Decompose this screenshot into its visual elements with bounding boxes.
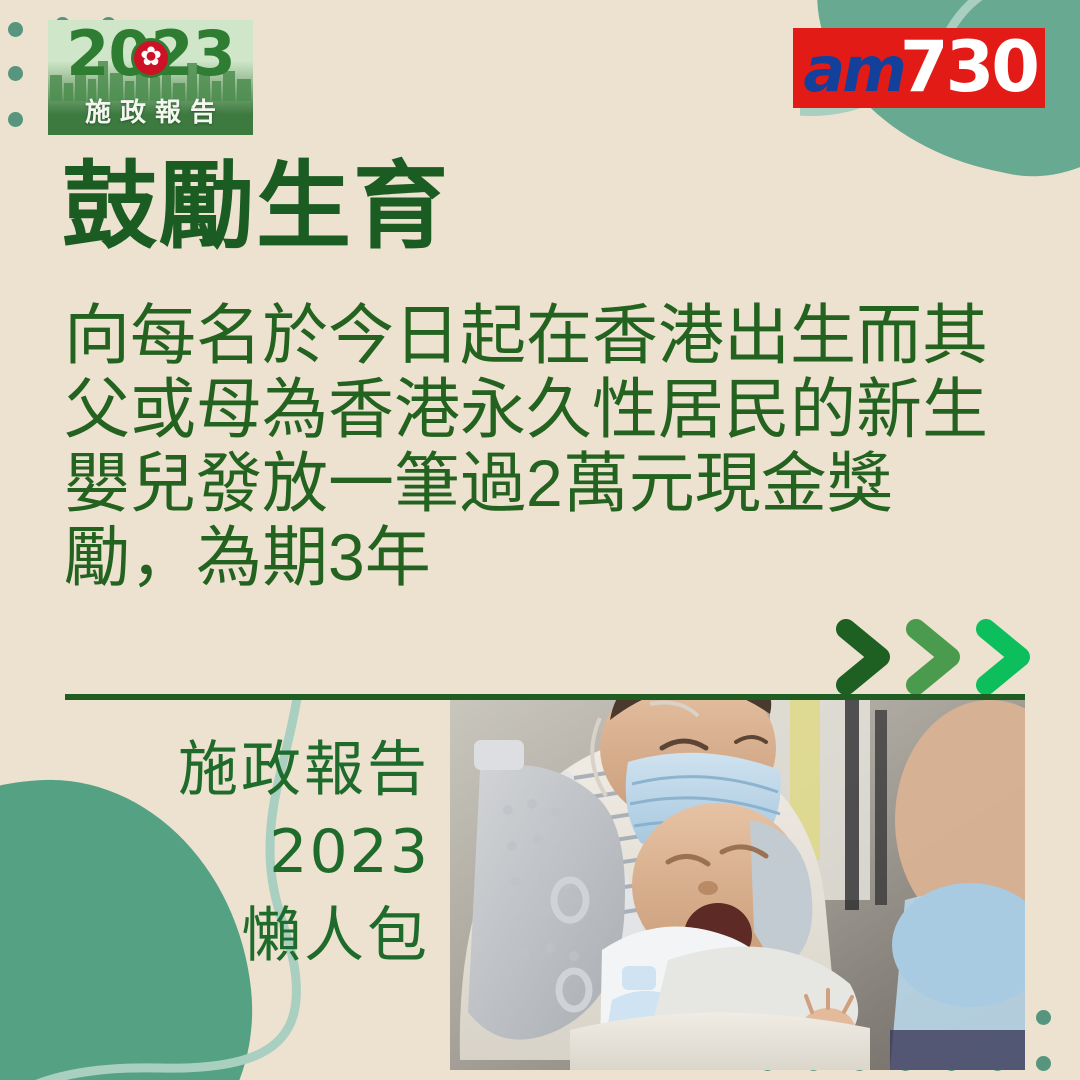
- caption-line-2: 2023: [120, 811, 430, 894]
- policy-address-2023-logo: 2023 施政報告: [48, 20, 253, 135]
- infographic-poster: 2023 施政報告 am 730 鼓勵生育 向每名於今日起在香港出生而其父或母為…: [0, 0, 1080, 1080]
- am730-logo-prefix: am: [803, 39, 903, 101]
- chevron-right-icon-3: [972, 619, 1038, 695]
- page-title: 鼓勵生育: [62, 158, 450, 258]
- caption-line-3: 懶人包: [120, 894, 430, 977]
- chevron-arrows-group: [832, 619, 1038, 695]
- mother-and-baby-photo: [450, 700, 1025, 1070]
- am730-logo-number: 730: [900, 32, 1037, 102]
- dot-decoration-tl-4: [8, 112, 23, 127]
- dot-decoration-tl-3: [8, 66, 23, 81]
- dot-decoration-br-7: [1036, 1010, 1051, 1025]
- caption-line-1: 施政報告: [120, 728, 430, 811]
- dot-decoration-br-6: [1036, 1056, 1051, 1071]
- am730-logo[interactable]: am 730: [793, 28, 1045, 108]
- footer-caption: 施政報告 2023 懶人包: [120, 728, 430, 977]
- chevron-right-icon-1: [832, 619, 898, 695]
- chevron-right-icon-2: [902, 619, 968, 695]
- body-paragraph: 向每名於今日起在香港出生而其父或母為香港永久性居民的新生嬰兒發放一筆過2萬元現金…: [64, 298, 994, 594]
- dot-decoration-tl-0: [8, 22, 23, 37]
- hk-bauhinia-emblem-icon: [131, 38, 171, 78]
- logo-label: 施政報告: [48, 92, 253, 129]
